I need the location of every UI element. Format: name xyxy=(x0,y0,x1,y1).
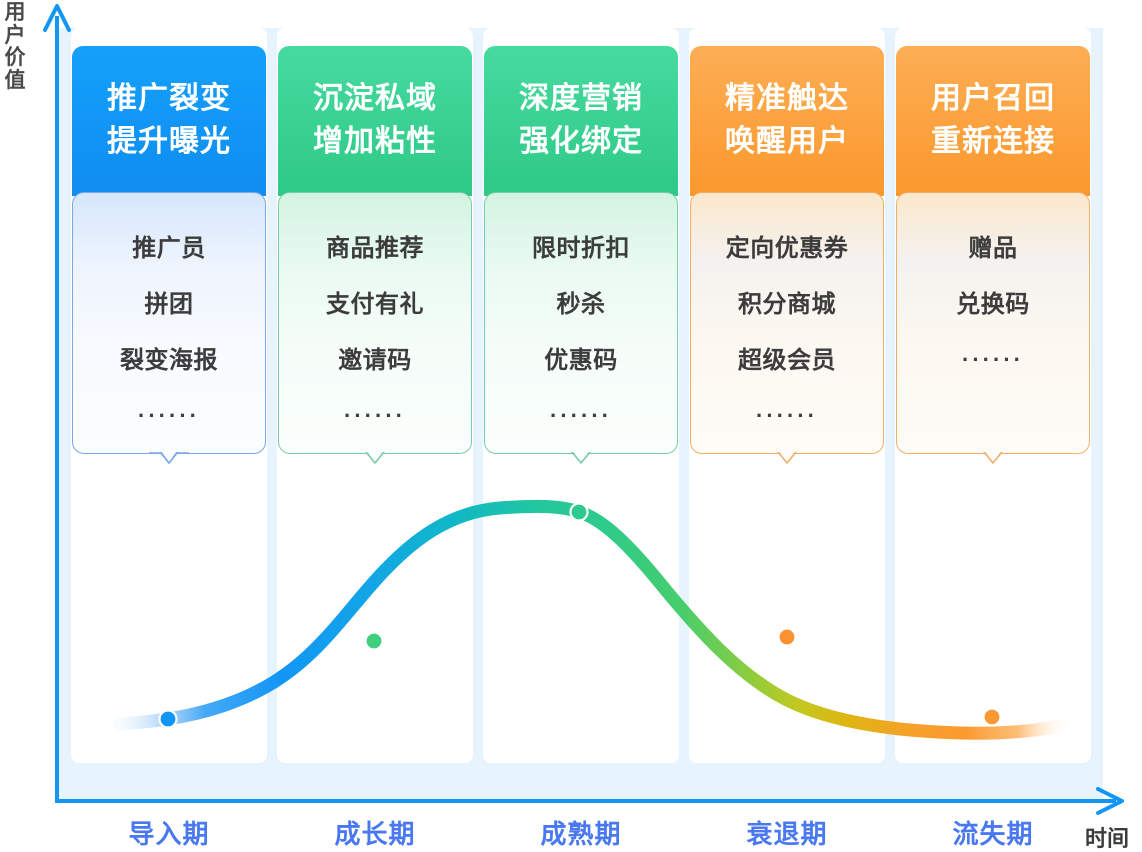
stage-card-mature[interactable]: 深度营销 强化绑定 限时折扣 秒杀 优惠码 ······ xyxy=(484,46,678,454)
stage-label-growth: 成长期 xyxy=(277,814,473,851)
stage-card-churn-tail xyxy=(973,452,1013,466)
stage-label-intro: 导入期 xyxy=(71,814,267,851)
stage-card-growth-header: 沉淀私域 增加粘性 xyxy=(278,46,472,196)
stage-card-growth-tail xyxy=(355,452,395,466)
stage-card-intro-body: 推广员 拼团 裂变海报 ······ xyxy=(72,192,266,454)
stage-card-mature-item-1: 限时折扣 xyxy=(532,237,630,261)
stage-card-mature-item-4: ······ xyxy=(550,405,612,427)
stage-label-decline: 衰退期 xyxy=(689,814,885,851)
stage-card-growth-body: 商品推荐 支付有礼 邀请码 ······ xyxy=(278,192,472,454)
stage-card-mature-item-3: 优惠码 xyxy=(544,349,618,373)
stage-card-churn[interactable]: 用户召回 重新连接 赠品 兑换码 ······ xyxy=(896,46,1090,454)
stage-card-growth-item-4: ······ xyxy=(344,405,406,427)
stage-card-intro-item-1: 推广员 xyxy=(132,237,206,261)
stage-card-intro-tail xyxy=(149,452,189,466)
stage-card-growth[interactable]: 沉淀私域 增加粘性 商品推荐 支付有礼 邀请码 ······ xyxy=(278,46,472,454)
stage-card-decline-tail xyxy=(767,452,807,466)
stage-card-intro[interactable]: 推广裂变 提升曝光 推广员 拼团 裂变海报 ······ xyxy=(72,46,266,454)
stage-card-decline-header: 精准触达 唤醒用户 xyxy=(690,46,884,196)
stage-card-decline-item-4: ······ xyxy=(756,405,818,427)
stage-label-churn: 流失期 xyxy=(895,814,1091,851)
stage-card-decline-item-3: 超级会员 xyxy=(738,349,836,373)
stage-card-mature-tail xyxy=(561,452,601,466)
stage-card-churn-title-line2: 重新连接 xyxy=(931,121,1055,164)
stage-card-mature-body: 限时折扣 秒杀 优惠码 ······ xyxy=(484,192,678,454)
stage-card-churn-item-2: 兑换码 xyxy=(956,293,1030,317)
stage-card-mature-title-line1: 深度营销 xyxy=(519,78,643,121)
stage-card-growth-title-line1: 沉淀私域 xyxy=(313,78,437,121)
stage-card-decline[interactable]: 精准触达 唤醒用户 定向优惠券 积分商城 超级会员 ······ xyxy=(690,46,884,454)
stage-card-decline-item-2: 积分商城 xyxy=(738,293,836,317)
stage-card-churn-title-line1: 用户召回 xyxy=(931,78,1055,121)
y-axis-label: 用户价值 xyxy=(2,2,28,93)
stage-card-growth-item-3: 邀请码 xyxy=(338,349,412,373)
stage-card-intro-title-line2: 提升曝光 xyxy=(107,121,231,164)
stage-card-intro-title-line1: 推广裂变 xyxy=(107,78,231,121)
stage-card-churn-body: 赠品 兑换码 ······ xyxy=(896,192,1090,454)
stage-card-growth-title-line2: 增加粘性 xyxy=(313,121,437,164)
x-axis-label: 时间 xyxy=(1085,821,1129,852)
stage-card-decline-item-1: 定向优惠券 xyxy=(726,237,849,261)
stage-card-churn-item-1: 赠品 xyxy=(969,237,1018,261)
stage-card-mature-header: 深度营销 强化绑定 xyxy=(484,46,678,196)
stage-card-intro-item-4: ······ xyxy=(138,405,200,427)
stage-card-churn-item-3: ······ xyxy=(962,349,1024,371)
stage-card-mature-item-2: 秒杀 xyxy=(557,293,606,317)
stage-card-mature-title-line2: 强化绑定 xyxy=(519,121,643,164)
stage-card-growth-item-2: 支付有礼 xyxy=(326,293,424,317)
stage-label-mature: 成熟期 xyxy=(483,814,679,851)
stage-card-growth-item-1: 商品推荐 xyxy=(326,237,424,261)
stage-card-decline-title-line1: 精准触达 xyxy=(725,78,849,121)
stage-card-intro-header: 推广裂变 提升曝光 xyxy=(72,46,266,196)
lifecycle-diagram: 推广裂变 提升曝光 推广员 拼团 裂变海报 ······ 沉淀私域 增加粘性 商… xyxy=(0,0,1142,852)
stage-card-decline-body: 定向优惠券 积分商城 超级会员 ······ xyxy=(690,192,884,454)
stage-card-decline-title-line2: 唤醒用户 xyxy=(725,121,849,164)
stage-card-intro-item-2: 拼团 xyxy=(145,293,194,317)
stage-card-churn-header: 用户召回 重新连接 xyxy=(896,46,1090,196)
y-axis-arrow xyxy=(45,6,69,30)
stage-card-intro-item-3: 裂变海报 xyxy=(120,349,218,373)
